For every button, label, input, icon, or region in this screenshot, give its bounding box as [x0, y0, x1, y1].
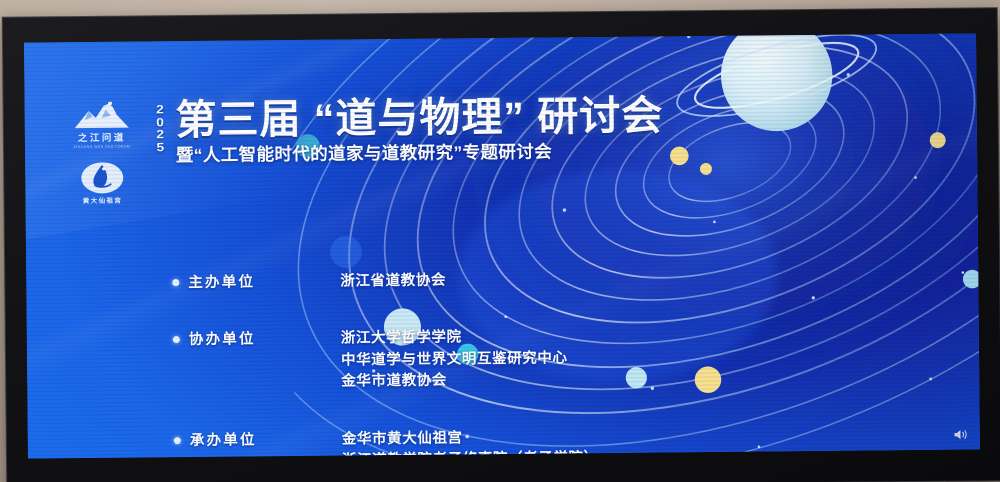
bullet-icon — [174, 437, 181, 444]
info-value: 浙江省道教协会 — [340, 271, 446, 293]
info-value: 浙江大学哲学学院 — [341, 327, 568, 351]
info-row-host: 主办单位 浙江省道教协会 — [172, 269, 597, 295]
slide-titles: 第三届 “道与物理” 研讨会 暨“人工智能时代的道家与道教研究”专题研讨会 — [175, 92, 663, 164]
info-value: 金华市道教协会 — [341, 370, 568, 394]
screenshot-root: 之江问道 ZHIJIANG WEN DAO FORUM 黄大仙祖宫 — [0, 0, 1000, 482]
info-values-host: 浙江省道教协会 — [340, 271, 446, 293]
info-values-co-organizer: 浙江大学哲学学院 中华道学与世界文明互鉴研究中心 金华市道教协会 — [341, 327, 568, 394]
huangdaxian-zugong-logo: 黄大仙祖宫 — [80, 162, 124, 205]
info-label-co-organizer: 协办单位 — [189, 329, 341, 351]
slide-header: 之江问道 ZHIJIANG WEN DAO FORUM 黄大仙祖宫 — [59, 92, 664, 205]
info-label-organizer: 承办单位 — [190, 429, 342, 451]
info-value: 中华道学与世界文明互鉴研究中心 — [341, 348, 568, 372]
info-row-co-organizer: 协办单位 浙江大学哲学学院 中华道学与世界文明互鉴研究中心 金华市道教协会 — [173, 327, 598, 395]
zhijiang-wendao-logo: 之江问道 ZHIJIANG WEN DAO FORUM — [72, 102, 132, 150]
crane-emblem-icon — [80, 162, 124, 194]
mountain-icon — [73, 102, 131, 130]
year-digit-3: 5 — [156, 141, 164, 154]
info-label-host: 主办单位 — [188, 272, 340, 294]
year-vertical-2025: 2 0 2 5 — [157, 97, 164, 153]
conference-title: 第三届 “道与物理” 研讨会 — [175, 94, 663, 141]
bullet-icon — [172, 279, 179, 286]
zhijiang-wendao-caption: 之江问道 — [78, 130, 126, 144]
display-panel: 之江问道 ZHIJIANG WEN DAO FORUM 黄大仙祖宫 — [24, 33, 980, 458]
wall-mounted-display: 之江问道 ZHIJIANG WEN DAO FORUM 黄大仙祖宫 — [2, 7, 1000, 482]
bullet-icon — [173, 337, 180, 344]
zhijiang-wendao-pinyin: ZHIJIANG WEN DAO FORUM — [74, 145, 131, 149]
huangdaxian-zugong-caption: 黄大仙祖宫 — [83, 195, 123, 205]
info-value: 金华市黄大仙祖宫 — [342, 427, 599, 451]
conference-subtitle: 暨“人工智能时代的道家与道教研究”专题研讨会 — [176, 140, 664, 165]
organizer-info-list: 主办单位 浙江省道教协会 协办单位 浙江大学哲学学院 中华道学与世界文明互鉴研究… — [172, 269, 599, 458]
speaker-icon — [953, 428, 970, 442]
organizer-logos: 之江问道 ZHIJIANG WEN DAO FORUM 黄大仙祖宫 — [59, 97, 146, 205]
